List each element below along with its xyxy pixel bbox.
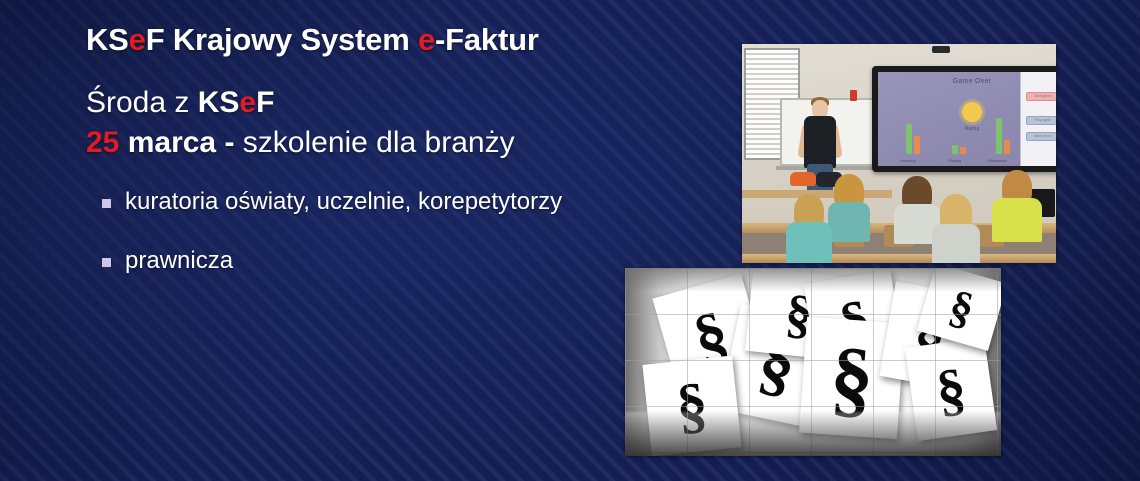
screen-side-panel: New game Play again Main menu [1020,72,1056,166]
chart-bar [906,124,912,154]
bottom-gradient-fade [625,410,1001,456]
chart-bar [914,136,920,154]
slide-canvas: KSeF Krajowy System e-Faktur Środa z KSe… [0,0,1140,481]
subtitle-line1-bold-f: F [256,86,274,119]
camera-icon [932,46,950,53]
chart-bar-label: Playing [948,158,961,163]
student-body [932,224,980,263]
chart-bar [960,147,966,154]
title-accent-e-2: e [418,22,435,57]
title-part-1: KS [86,22,129,57]
subtitle-line-1: Środa z KSeF [86,83,726,123]
list-item-label: prawnicza [125,247,233,275]
subtitle-line1-plain: Środa z [86,86,198,119]
panel-button-label: Play again [1026,118,1056,122]
panel-heading-label [1026,77,1056,81]
fire-alarm-icon [850,90,857,101]
panel-button-label: New game [1026,94,1056,98]
subtitle-month-dash: marca - [119,126,242,159]
subtitle-line-2: 25 marca - szkolenie dla branży [86,123,726,163]
top-gradient-fade [625,268,1001,292]
subtitle-date: 25 [86,126,119,159]
chart-bar-label: Discussion [988,158,1007,163]
title-part-2: F Krajowy System [146,22,418,57]
panel-button-label: Main menu [1026,134,1056,138]
subtitle-line1-accent-e: e [239,86,256,119]
list-item: kuratoria oświaty, uczelnie, korepetytor… [86,188,726,216]
page-title: KSeF Krajowy System e-Faktur [86,22,726,58]
teacher-torso [804,116,836,168]
square-bullet-icon [102,258,111,267]
interactive-display-screen: Game Over Rating Learning Playing Discus… [878,72,1056,166]
student-body [828,202,870,242]
square-bullet-icon [102,199,111,208]
chart-bar [1004,140,1010,154]
subtitle-line2-plain: szkolenie dla branży [243,126,515,159]
sun-icon [962,102,982,122]
subtitle-line1-bold-ks: KS [198,86,240,119]
classroom-presentation-photo: Game Over Rating Learning Playing Discus… [742,44,1056,263]
chart-bar-label: Learning [900,158,916,163]
title-part-3: -Faktur [435,22,539,57]
interactive-display-frame: Game Over Rating Learning Playing Discus… [872,66,1056,172]
slide-text-block: KSeF Krajowy System e-Faktur Środa z KSe… [86,22,726,306]
title-accent-e-1: e [129,22,146,57]
orange-bag [790,172,816,186]
list-item-label: kuratoria oświaty, uczelnie, korepetytor… [125,188,562,216]
paragraph-symbols-photo: § § § § § § § § § [625,268,1001,456]
student-body [786,222,832,263]
chart-bar [952,145,958,154]
bullet-list: kuratoria oświaty, uczelnie, korepetytor… [86,188,726,275]
subtitle-block: Środa z KSeF 25 marca - szkolenie dla br… [86,83,726,163]
chart-bar [996,118,1002,154]
student-body [992,198,1042,242]
